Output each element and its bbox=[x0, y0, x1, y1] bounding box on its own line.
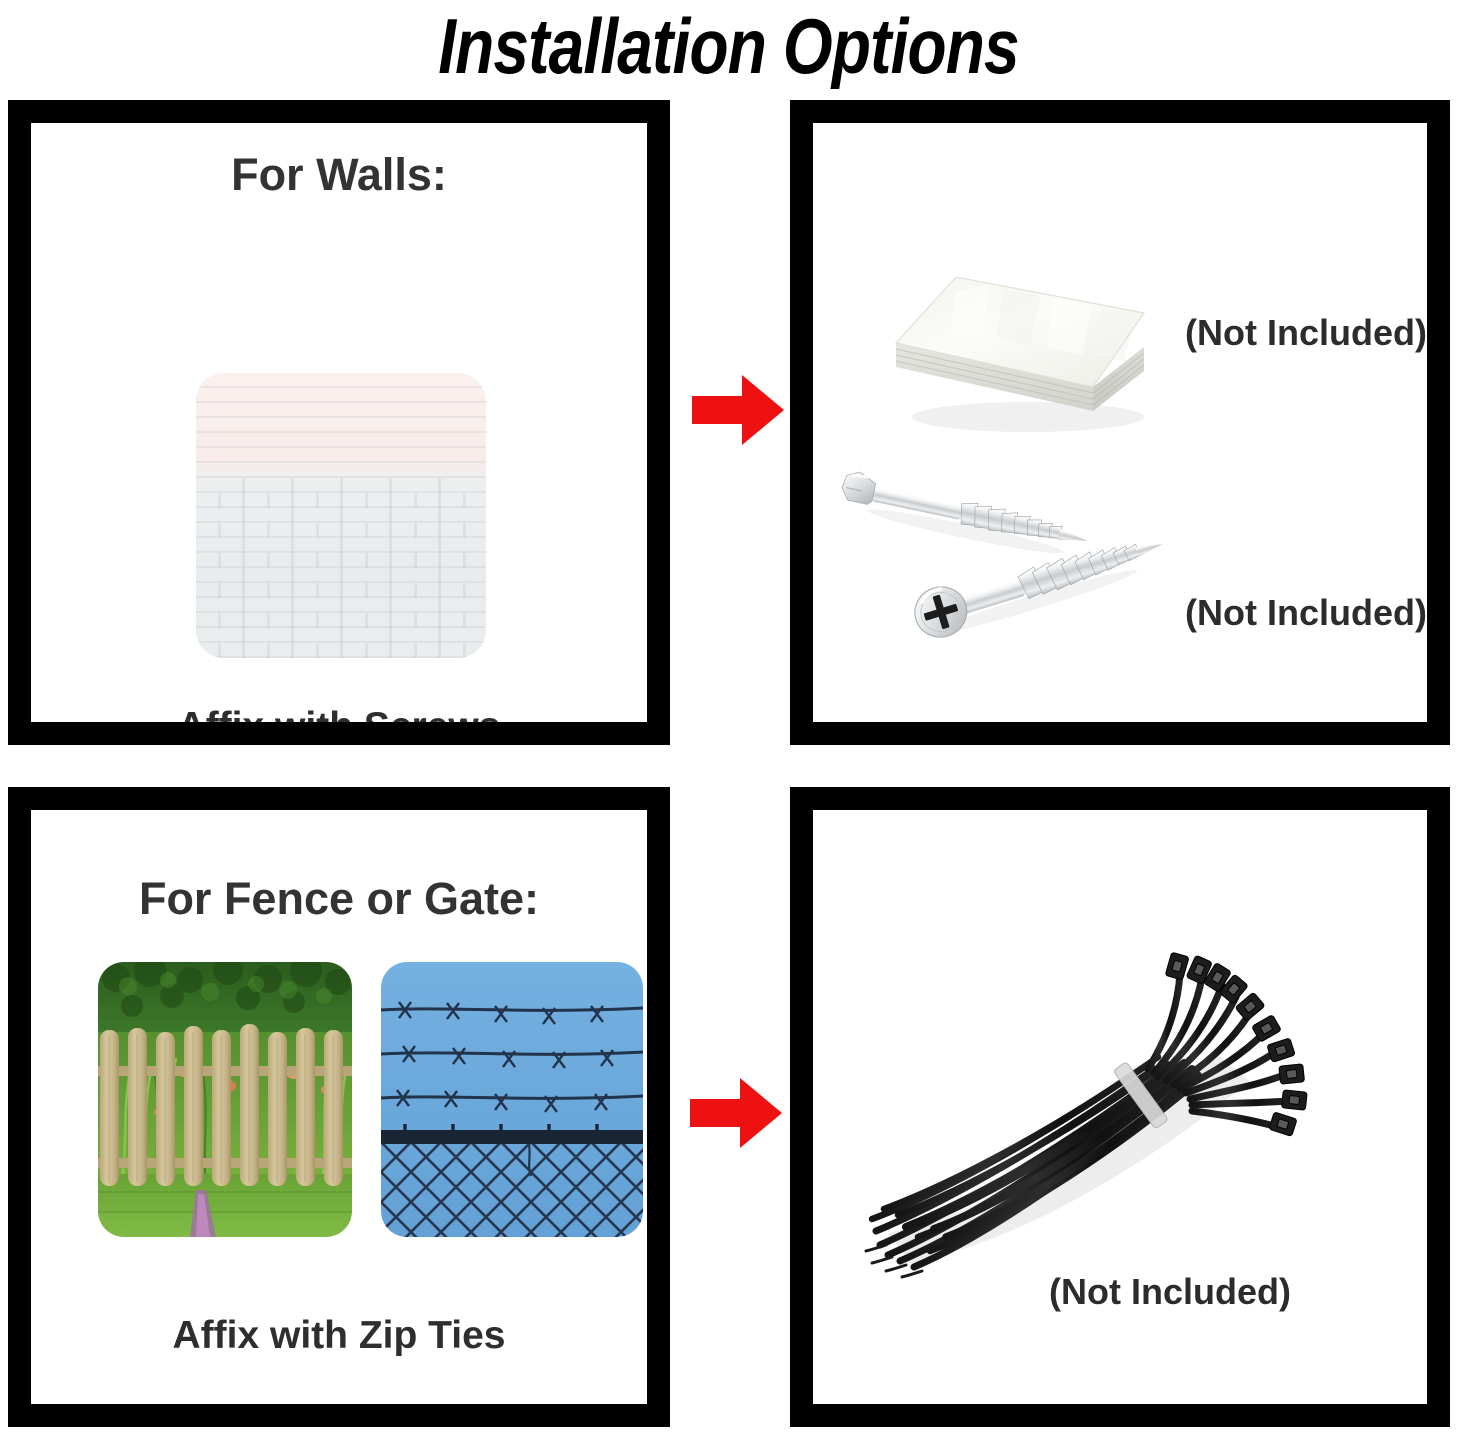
panel-wall-hardware-content: (Not Included) bbox=[813, 123, 1427, 722]
zip-ties-image bbox=[858, 915, 1308, 1290]
panel-for-walls: For Walls: Affix with Screws or Double S… bbox=[8, 100, 670, 745]
panel-zip-ties: (Not Included) bbox=[790, 787, 1450, 1427]
brick-heads-texture-offset bbox=[196, 493, 486, 658]
zip-ties-not-included-label: (Not Included) bbox=[1049, 1272, 1291, 1312]
wood-screws-image bbox=[821, 461, 1171, 651]
for-fence-heading: For Fence or Gate: bbox=[31, 873, 647, 925]
screws-not-included-label: (Not Included) bbox=[1185, 593, 1427, 633]
panel-zip-ties-content: (Not Included) bbox=[813, 810, 1427, 1404]
brick-wall-image bbox=[196, 373, 486, 658]
tape-not-included-label: (Not Included) bbox=[1185, 313, 1427, 353]
panel-for-walls-content: For Walls: Affix with Screws or Double S… bbox=[31, 123, 647, 722]
chain-link-fence-photo bbox=[381, 962, 643, 1237]
arrow-right-icon-bottom bbox=[690, 1076, 782, 1150]
page-title: Installation Options bbox=[131, 0, 1326, 92]
for-walls-caption-line1: Affix with Screws bbox=[31, 701, 647, 722]
wooden-fence-photo bbox=[98, 962, 352, 1237]
double-sided-tape-image bbox=[878, 255, 1178, 440]
for-fence-caption: Affix with Zip Ties bbox=[31, 1310, 647, 1362]
arrow-right-icon-top bbox=[692, 373, 784, 447]
for-walls-heading: For Walls: bbox=[31, 149, 647, 201]
panel-for-fence-or-gate-content: For Fence or Gate: bbox=[31, 810, 647, 1404]
panel-wall-hardware: (Not Included) bbox=[790, 100, 1450, 745]
panel-for-fence-or-gate: For Fence or Gate: bbox=[8, 787, 670, 1427]
